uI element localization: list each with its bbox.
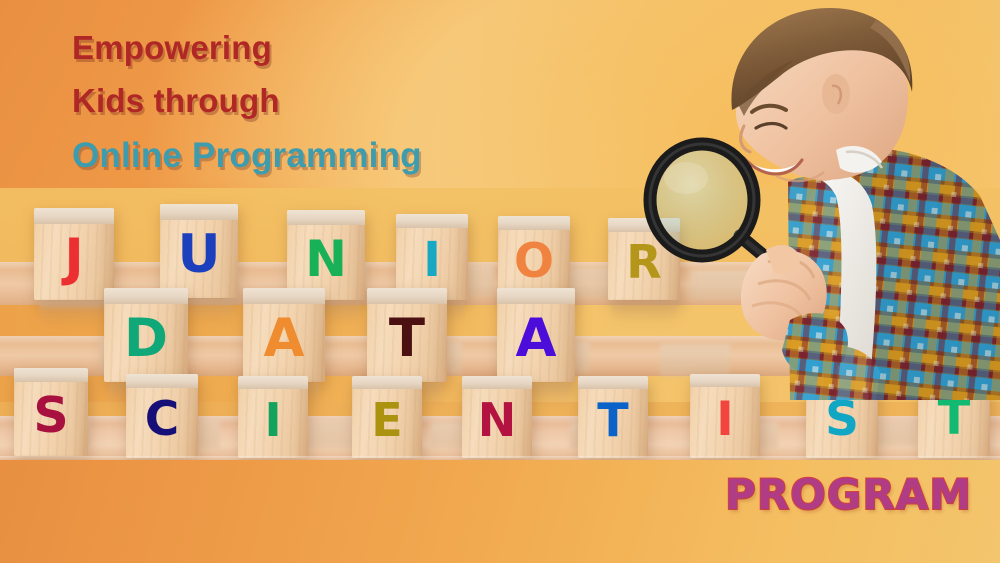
block-top-face	[462, 376, 532, 389]
poster-canvas: JUNIOR DATA SCIENTIST	[0, 0, 1000, 563]
block-top-face	[578, 376, 648, 389]
block-letter: C	[145, 396, 180, 443]
block-top-face	[160, 204, 238, 220]
block-letter: I	[264, 397, 281, 443]
block-letter: I	[716, 396, 734, 443]
letter-block-t-scientist-5: T	[578, 376, 648, 458]
block-top-face	[34, 208, 114, 224]
block-letter: N	[305, 234, 347, 284]
block-top-face	[126, 374, 198, 388]
letter-block-e-scientist-3: E	[352, 376, 422, 458]
block-top-face	[352, 376, 422, 389]
block-letter: S	[825, 396, 859, 443]
block-top-face	[287, 210, 365, 225]
letter-block-c-scientist-1: C	[126, 374, 198, 458]
letter-block-a-data-3: A	[497, 288, 575, 382]
block-letter: A	[515, 312, 556, 365]
block-top-face	[14, 368, 88, 382]
block-letter: T	[389, 312, 425, 365]
block-top-face	[497, 288, 575, 304]
block-letter: E	[371, 397, 402, 443]
block-letter: T	[938, 394, 971, 442]
letter-block-d-data-0: D	[104, 288, 188, 382]
letter-block-a-data-1: A	[243, 288, 325, 382]
letter-block-i-scientist-2: I	[238, 376, 308, 458]
block-top-face	[367, 288, 447, 304]
block-letter: D	[124, 312, 168, 365]
headline-line-3: Online Programming	[72, 128, 422, 184]
block-top-face	[243, 288, 325, 304]
letter-block-j-junior-0: J	[34, 208, 114, 300]
block-reflection	[39, 300, 109, 324]
letter-block-u-junior-1: U	[160, 204, 238, 298]
program-wordmark: PROGRAM	[725, 470, 972, 519]
letter-block-n-scientist-4: N	[462, 376, 532, 458]
block-top-face	[396, 214, 468, 228]
block-letter: N	[478, 397, 517, 443]
letter-block-n-junior-2: N	[287, 210, 365, 300]
block-top-face	[104, 288, 188, 304]
block-letter: I	[423, 236, 441, 284]
letter-block-s-scientist-0: S	[14, 368, 88, 456]
headline: Empowering Kids through Online Programmi…	[72, 22, 422, 184]
headline-line-2: Kids through	[72, 75, 422, 128]
block-letter: S	[33, 391, 68, 440]
block-letter: A	[263, 312, 304, 365]
headline-line-1: Empowering	[72, 22, 422, 75]
block-letter: O	[514, 238, 554, 285]
block-top-face	[498, 216, 570, 230]
block-letter: T	[597, 397, 628, 443]
boy-with-magnifying-glass-photo	[640, 0, 1000, 400]
block-letter: J	[64, 232, 83, 284]
block-top-face	[238, 376, 308, 389]
block-letter: U	[177, 228, 220, 281]
letter-block-t-data-2: T	[367, 288, 447, 382]
